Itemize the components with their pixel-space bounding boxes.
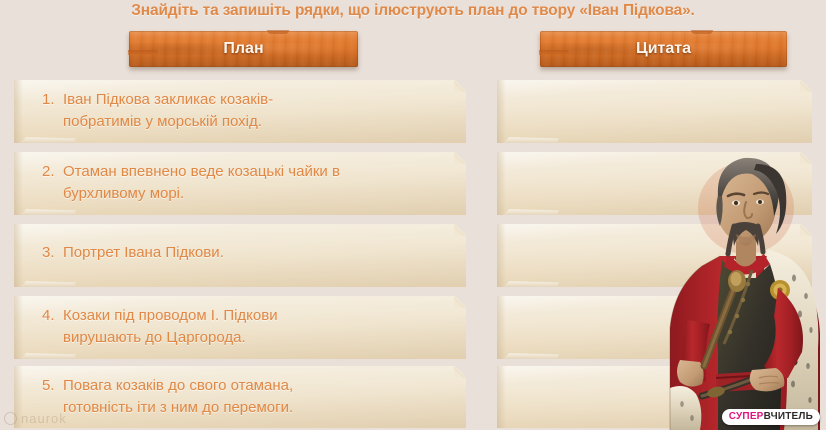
plan-scroll-3[interactable]: 3.Портрет Івана Підкови. bbox=[14, 224, 466, 287]
plan-item-text-1: 1.Іван Підкова закликає козаків- побрати… bbox=[42, 89, 450, 133]
plan-item-line2-1: побратимів у морській похід. bbox=[63, 111, 450, 133]
superteacher-logo: СУПЕРВЧИТЕЛЬ bbox=[722, 409, 820, 425]
plan-item-line2-2: бурхливому морі. bbox=[63, 183, 450, 205]
plan-scroll-1[interactable]: 1.Іван Підкова закликає козаків- побрати… bbox=[14, 80, 466, 143]
scroll-left-edge bbox=[14, 296, 23, 359]
scroll-corner-notch-icon bbox=[800, 366, 812, 378]
copyright-ring-icon bbox=[4, 412, 17, 425]
quote-scroll-1[interactable] bbox=[497, 80, 812, 143]
scroll-corner-notch-icon bbox=[454, 80, 466, 92]
plan-item-number-4: 4. bbox=[42, 305, 63, 327]
page-title: Знайдіть та запишіть рядки, що ілюструют… bbox=[0, 2, 826, 20]
scroll-left-edge bbox=[14, 224, 23, 287]
scroll-left-edge bbox=[497, 224, 506, 287]
plan-item-number-2: 2. bbox=[42, 161, 63, 183]
wood-chip-decoration bbox=[128, 50, 158, 55]
column-header-quote-label: Цитата bbox=[636, 40, 691, 58]
quote-scroll-2[interactable] bbox=[497, 152, 812, 215]
scroll-corner-fold-icon bbox=[16, 353, 76, 364]
scroll-corner-fold-icon bbox=[16, 281, 76, 292]
scroll-corner-fold-icon bbox=[16, 209, 76, 220]
scroll-corner-notch-icon bbox=[454, 224, 466, 236]
scroll-corner-fold-icon bbox=[499, 209, 559, 220]
scroll-corner-notch-icon bbox=[800, 80, 812, 92]
scroll-corner-fold-icon bbox=[499, 281, 559, 292]
scroll-corner-fold-icon bbox=[499, 353, 559, 364]
scroll-corner-notch-icon bbox=[454, 296, 466, 308]
scroll-corner-notch-icon bbox=[454, 152, 466, 164]
plan-scroll-2[interactable]: 2.Отаман впевнено веде козацькі чайки в … bbox=[14, 152, 466, 215]
logo-text-part1: СУПЕР bbox=[729, 411, 764, 422]
scroll-corner-fold-icon bbox=[16, 137, 76, 148]
column-header-plan-label: План bbox=[223, 40, 263, 58]
plan-item-number-3: 3. bbox=[42, 242, 63, 264]
scroll-left-edge bbox=[14, 152, 23, 215]
plan-item-line2-4: вирушають до Царгорода. bbox=[63, 327, 450, 349]
plan-item-text-4: 4.Козаки під проводом І. Підкови вирушаю… bbox=[42, 305, 450, 349]
plan-scroll-4[interactable]: 4.Козаки під проводом І. Підкови вирушаю… bbox=[14, 296, 466, 359]
plan-item-text-3: 3.Портрет Івана Підкови. bbox=[42, 242, 450, 264]
scroll-corner-notch-icon bbox=[800, 296, 812, 308]
plan-item-text-5: 5.Повага козаків до свого отамана, готов… bbox=[42, 375, 450, 419]
watermark-faint-text: naurok bbox=[21, 411, 67, 426]
watermark-faint: naurok bbox=[4, 411, 67, 426]
plan-item-line1-1: Іван Підкова закликає козаків- bbox=[63, 91, 273, 108]
scroll-corner-notch-icon bbox=[454, 366, 466, 378]
column-header-quote: Цитата bbox=[540, 31, 787, 67]
plan-item-line1-3: Портрет Івана Підкови. bbox=[63, 244, 224, 261]
plan-item-line1-5: Повага козаків до свого отамана, bbox=[63, 377, 293, 394]
plan-item-number-1: 1. bbox=[42, 89, 63, 111]
plan-item-text-2: 2.Отаман впевнено веде козацькі чайки в … bbox=[42, 161, 450, 205]
plan-item-number-5: 5. bbox=[42, 375, 63, 397]
column-header-plan: План bbox=[129, 31, 358, 67]
quote-scroll-3[interactable] bbox=[497, 224, 812, 287]
scroll-left-edge bbox=[497, 152, 506, 215]
scroll-left-edge bbox=[497, 80, 506, 143]
scroll-left-edge bbox=[497, 366, 506, 428]
plan-scroll-5[interactable]: 5.Повага козаків до свого отамана, готов… bbox=[14, 366, 466, 428]
wood-chip-decoration bbox=[539, 50, 569, 55]
plan-item-line1-2: Отаман впевнено веде козацькі чайки в bbox=[63, 163, 340, 180]
logo-text-part2: ВЧИТЕЛЬ bbox=[764, 411, 813, 422]
scroll-left-edge bbox=[14, 80, 23, 143]
plan-item-line2-5: готовність іти з ним до перемоги. bbox=[63, 397, 450, 419]
quote-scroll-4[interactable] bbox=[497, 296, 812, 359]
scroll-corner-fold-icon bbox=[499, 137, 559, 148]
scroll-left-edge bbox=[497, 296, 506, 359]
scroll-corner-notch-icon bbox=[800, 224, 812, 236]
plan-item-line1-4: Козаки під проводом І. Підкови bbox=[63, 307, 278, 324]
scroll-corner-notch-icon bbox=[800, 152, 812, 164]
